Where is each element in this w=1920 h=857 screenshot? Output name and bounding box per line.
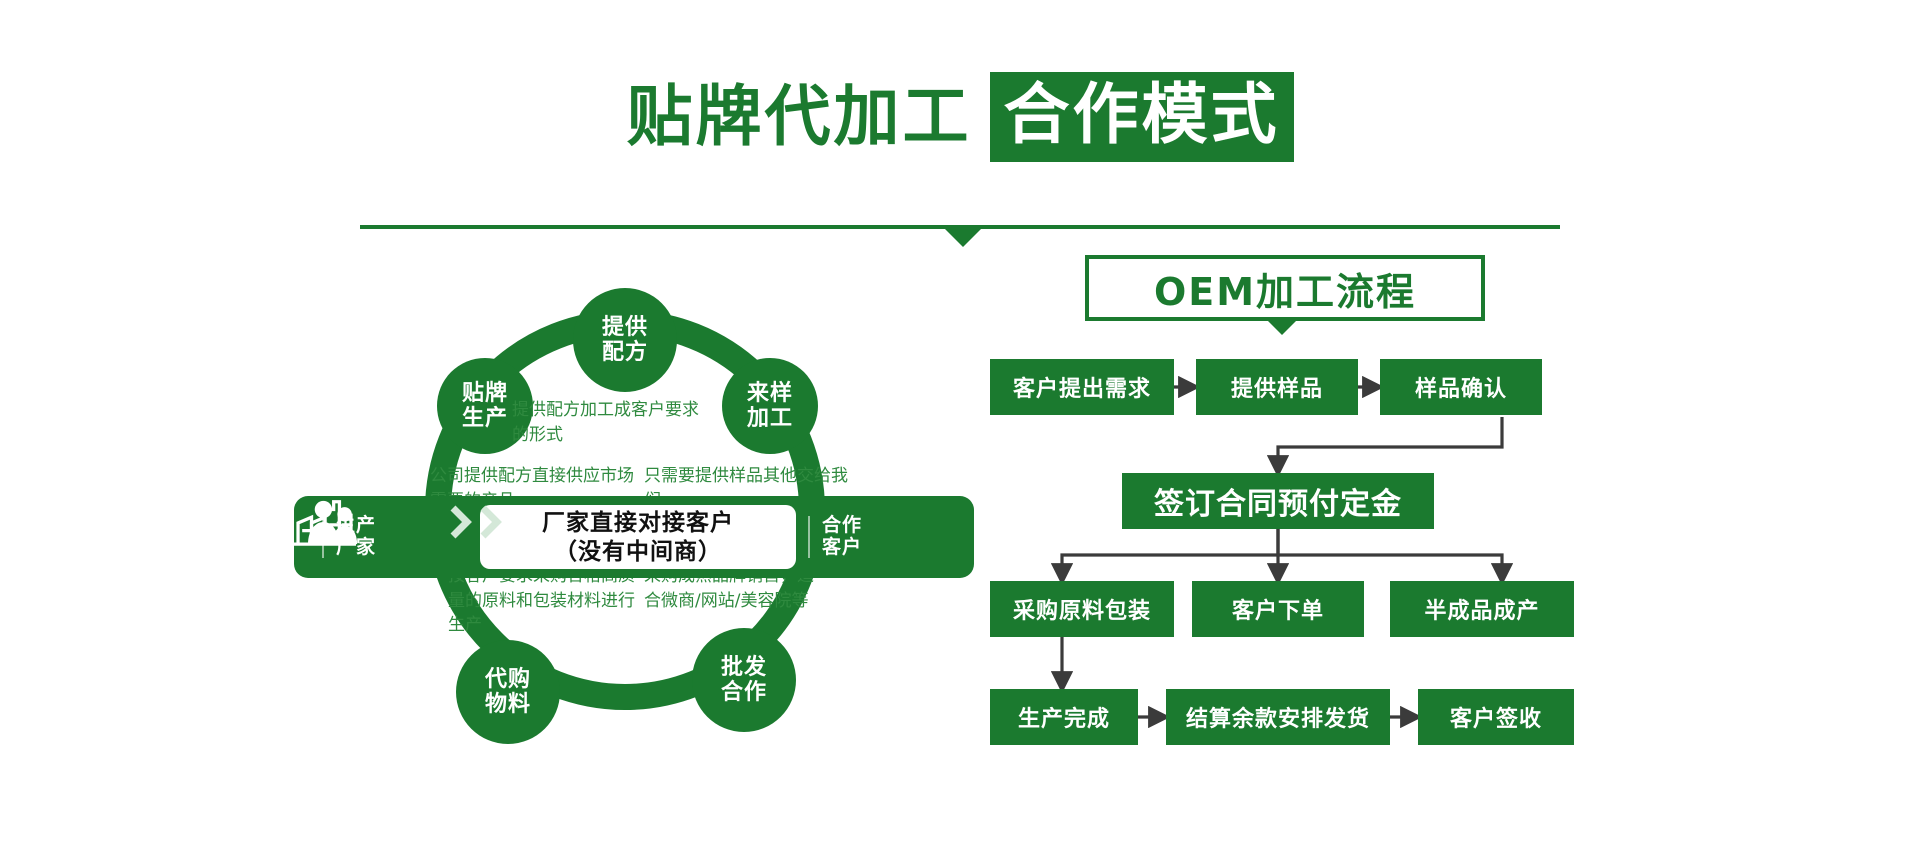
flow-box-settle-balance-ship[interactable]: 结算余款安排发货 [1166,689,1390,745]
node-sample-processing-line1: 来样 [747,381,793,406]
node-provide-formula-line2: 配方 [602,340,648,365]
direct-connection-line2: （没有中间商） [542,537,734,566]
chevron-right-icon-right [480,505,502,539]
page-title-boxed: 合作模式 [990,72,1294,162]
flow-box-customer-order[interactable]: 客户下单 [1192,581,1364,637]
desc-provide-formula: 提供配方加工成客户要求的形式 [512,398,712,447]
node-wholesale-coop-line2: 合作 [721,680,767,705]
flow-box-sign-contract-deposit[interactable]: 签订合同预付定金 [1122,473,1434,529]
flow-box-customer-request[interactable]: 客户提出需求 [990,359,1174,415]
direct-connection-text: 厂家直接对接客户 （没有中间商） [542,508,734,565]
infographic-root: 贴牌代加工 合作模式 提供 配方 贴牌 生产 来样 加工 代购 物料 批发 合作 [0,0,1920,857]
flow-box-production-complete[interactable]: 生产完成 [990,689,1138,745]
chevron-right-icon-left [450,505,472,539]
flow-box-purchase-materials[interactable]: 采购原料包装 [990,581,1174,637]
flow-box-provide-sample[interactable]: 提供样品 [1196,359,1358,415]
node-sample-processing-line2: 加工 [747,406,793,431]
flow-box-semi-finished-production[interactable]: 半成品成产 [1390,581,1574,637]
node-oem-production-line2: 生产 [462,406,508,431]
factory-to-customer-bar: 生产 厂家 厂家直接对接客户 （没有中间商） [294,496,974,578]
customer-label-line1: 合作 [822,515,862,537]
page-title: 贴牌代加工 合作模式 [0,72,1920,162]
node-wholesale-coop[interactable]: 批发 合作 [692,628,796,732]
flow-box-customer-receipt[interactable]: 客户签收 [1418,689,1574,745]
customer-label: 合作 客户 [822,515,862,560]
page-title-plain: 贴牌代加工 [627,84,972,150]
flow-box-sample-confirm[interactable]: 样品确认 [1380,359,1542,415]
direct-connection-line1: 厂家直接对接客户 [542,508,734,537]
direct-connection-card: 厂家直接对接客户 （没有中间商） [480,505,796,569]
people-icon [304,496,364,548]
cycle-diagram: 提供 配方 贴牌 生产 来样 加工 代购 物料 批发 合作 提供配方加工成客户要… [352,288,912,768]
node-wholesale-coop-line1: 批发 [721,655,767,680]
oem-flowchart: OEM加工流程 [990,255,1590,775]
node-purchase-materials-line2: 物料 [485,692,531,717]
node-sample-processing[interactable]: 来样 加工 [722,358,818,454]
title-caret-icon [945,229,981,247]
customer-label-line2: 客户 [822,537,862,559]
node-provide-formula[interactable]: 提供 配方 [573,288,677,392]
customer-side: 合作 客户 [796,515,974,560]
node-purchase-materials-line1: 代购 [485,667,531,692]
node-oem-production-line1: 贴牌 [462,381,508,406]
bar-divider-right [808,516,810,558]
node-purchase-materials[interactable]: 代购 物料 [456,640,560,744]
node-provide-formula-line1: 提供 [602,315,648,340]
